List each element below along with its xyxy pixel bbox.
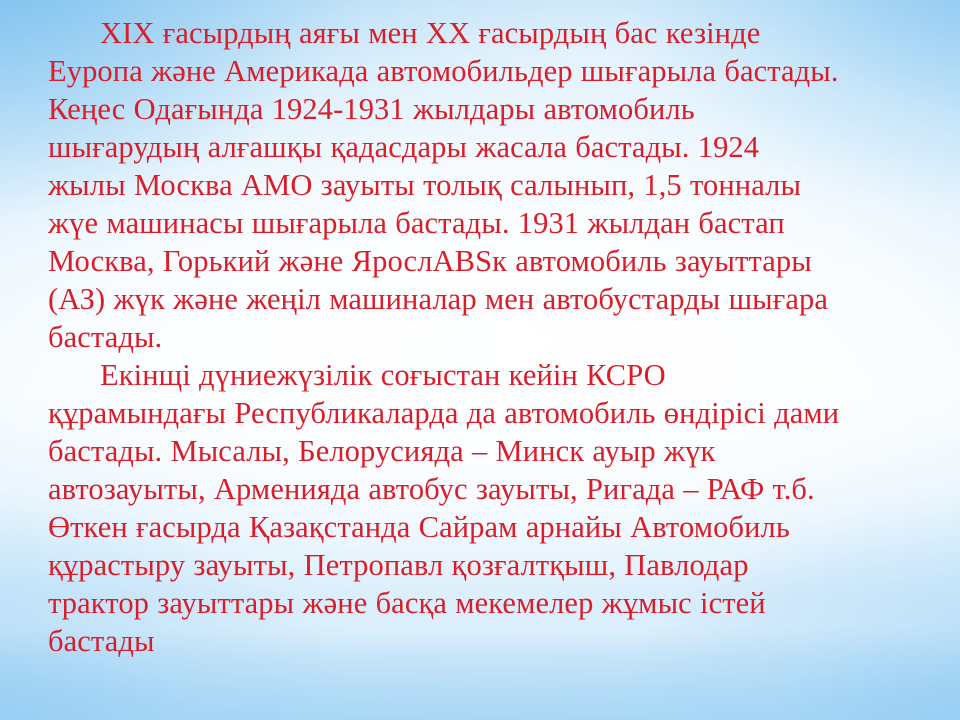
paragraph-1-line-4: шығарудың алғашқы қадасдары жасала баста…: [48, 130, 759, 164]
paragraph-1-line-7: Москва, Горький және ЯрослABSк автомобил…: [48, 244, 812, 278]
paragraph-2-line-4: автозауыты, Арменияда автобус зауыты, Ри…: [48, 472, 815, 506]
paragraph-2-line-7: трактор зауыттары және басқа мекемелер ж…: [48, 586, 766, 620]
paragraph-1-line-1: XIX ғасырдың аяғы мен XX ғасырдың бас ке…: [100, 16, 760, 50]
paragraph-1: XIX ғасырдың аяғы мен XX ғасырдың бас ке…: [48, 14, 928, 356]
paragraph-1-line-5: жылы Москва АМО зауыты толық салынып, 1,…: [48, 168, 801, 202]
paragraph-1-line-3: Кеңес Одағында 1924-1931 жылдары автомоб…: [48, 92, 695, 126]
slide-canvas: XIX ғасырдың аяғы мен XX ғасырдың бас ке…: [0, 0, 960, 720]
paragraph-1-line-8: (АЗ) жүк және жеңіл машиналар мен автобу…: [48, 282, 828, 316]
paragraph-2-line-5: Өткен ғасырда Қазақстанда Сайрам арнайы …: [48, 510, 790, 544]
paragraph-2-line-8: бастады: [48, 624, 155, 658]
paragraph-1-line-6: жүе машинасы шығарыла бастады. 1931 жылд…: [48, 206, 785, 240]
paragraph-2-line-3: бастады. Мысалы, Белорусияда – Минск ауы…: [48, 434, 715, 468]
paragraph-2-line-1: Екінщі дүниежүзілік соғыстан кейін КСРО: [100, 358, 666, 392]
paragraph-1-line-2: Еуропа және Америкада автомобильдер шыға…: [48, 54, 839, 88]
paragraph-1-line-9: бастады.: [48, 320, 162, 354]
paragraph-2-line-2: құрамындағы Республикаларда да автомобил…: [48, 396, 839, 430]
slide-text-body: XIX ғасырдың аяғы мен XX ғасырдың бас ке…: [48, 14, 928, 660]
paragraph-2-line-6: құрастыру зауыты, Петропавл қозғалтқыш, …: [48, 548, 749, 582]
paragraph-2: Екінщі дүниежүзілік соғыстан кейін КСРО …: [48, 356, 928, 660]
